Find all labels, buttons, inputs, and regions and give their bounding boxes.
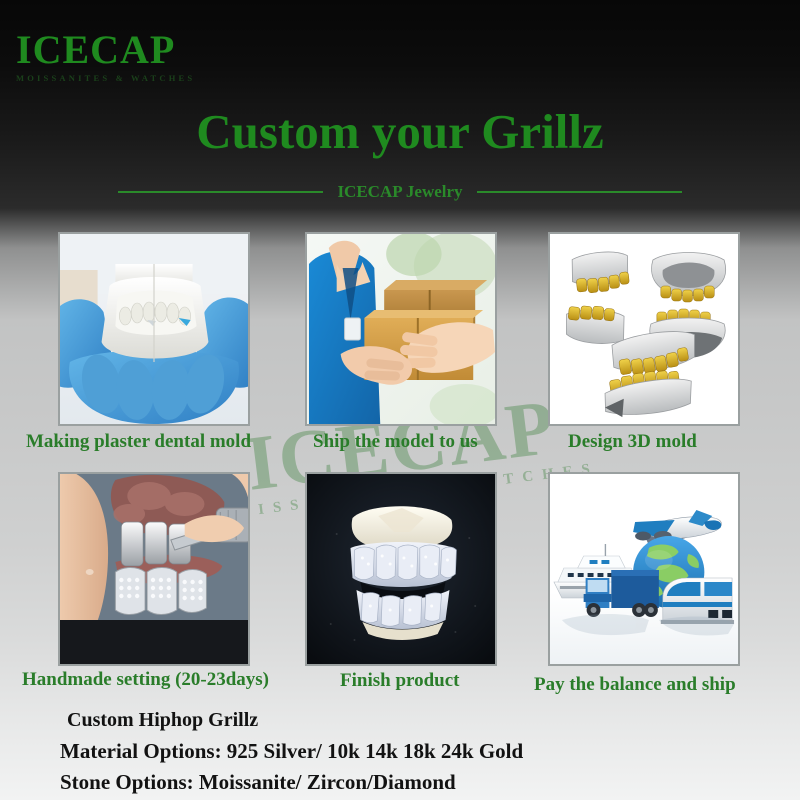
brand-name: ICECAP (16, 30, 276, 70)
product-title-line: Custom Hiphop Grillz (60, 705, 760, 736)
step-card-6 (548, 472, 740, 666)
finished-grillz-photo (305, 472, 497, 666)
step-card-4 (58, 472, 250, 666)
material-options-line: Material Options: 925 Silver/ 10k 14k 18… (60, 736, 760, 767)
step-caption-2: Ship the model to us (313, 431, 478, 453)
step-caption-6: Pay the balance and ship (534, 674, 736, 696)
step-caption-1: Making plaster dental mold (26, 431, 251, 453)
page-title: Custom your Grillz (0, 103, 800, 160)
step-caption-3: Design 3D mold (568, 431, 697, 453)
step-card-5 (305, 472, 497, 666)
shipping-handoff-photo (305, 232, 497, 426)
brand-tagline: MOISSANITES & WATCHES (16, 73, 276, 83)
subtitle-divider: ICECAP Jewelry (0, 182, 800, 202)
design-3d-mold-render (548, 232, 740, 426)
step-card-3 (548, 232, 740, 426)
stone-options-line: Stone Options: Moissanite/ Zircon/Diamon… (60, 767, 760, 798)
product-details: Custom Hiphop Grillz Material Options: 9… (60, 705, 760, 798)
steps-row-1 (0, 232, 800, 428)
handmade-setting-photo (58, 472, 250, 666)
brand-logo: ICECAP MOISSANITES & WATCHES (16, 30, 276, 83)
promo-banner: ICECAP MOISSANITES & WATCHES Custom your… (0, 0, 800, 800)
steps-row-2 (0, 472, 800, 668)
subtitle-text: ICECAP Jewelry (337, 182, 462, 202)
step-caption-5: Finish product (340, 670, 460, 692)
divider-line-left (118, 191, 323, 193)
step-caption-4: Handmade setting (20-23days) (22, 669, 269, 691)
global-logistics-render (548, 472, 740, 666)
step-card-2 (305, 232, 497, 426)
plaster-dental-mold-photo (58, 232, 250, 426)
step-card-1 (58, 232, 250, 426)
divider-line-right (477, 191, 682, 193)
